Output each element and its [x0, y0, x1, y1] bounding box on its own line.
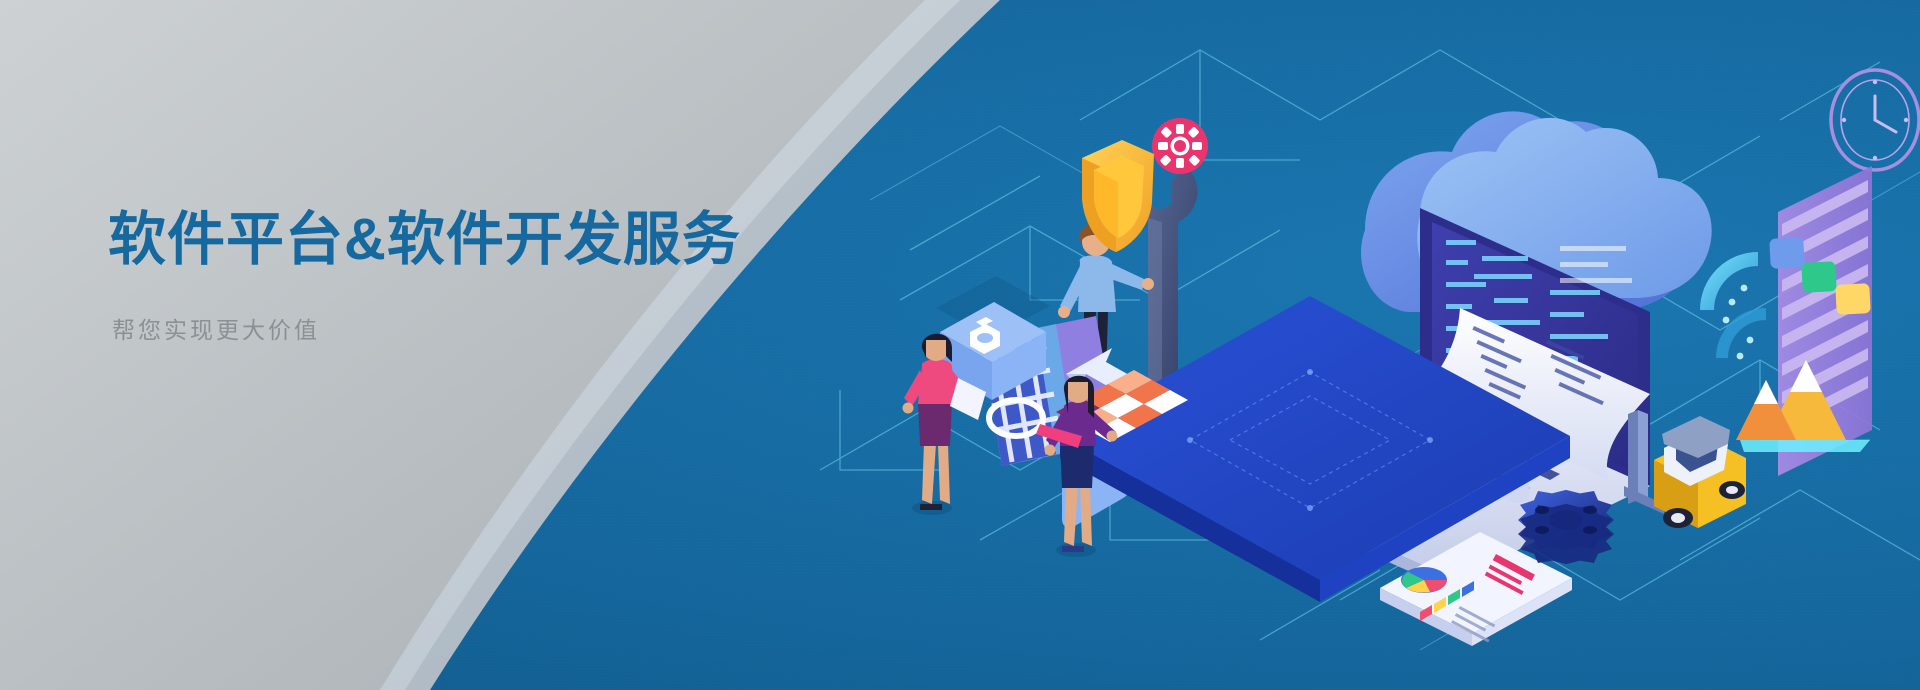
page-title: 软件平台&软件开发服务: [108, 208, 868, 273]
clock-icon: [1831, 70, 1919, 170]
hero-illustration: [860, 40, 1920, 660]
hero-banner: 软件平台&软件开发服务 帮您实现更大价值: [0, 0, 1920, 690]
gear-badge-icon: [1152, 118, 1208, 174]
grey-curve-panel: [0, 0, 1000, 690]
page-subtitle: 帮您实现更大价值: [112, 311, 868, 345]
forklift-icon: [1624, 410, 1746, 528]
hero-copy: 软件平台&软件开发服务 帮您实现更大价值: [108, 208, 868, 345]
tech-ring-icon: [1700, 252, 1766, 359]
gear-large-icon: [1518, 490, 1614, 564]
